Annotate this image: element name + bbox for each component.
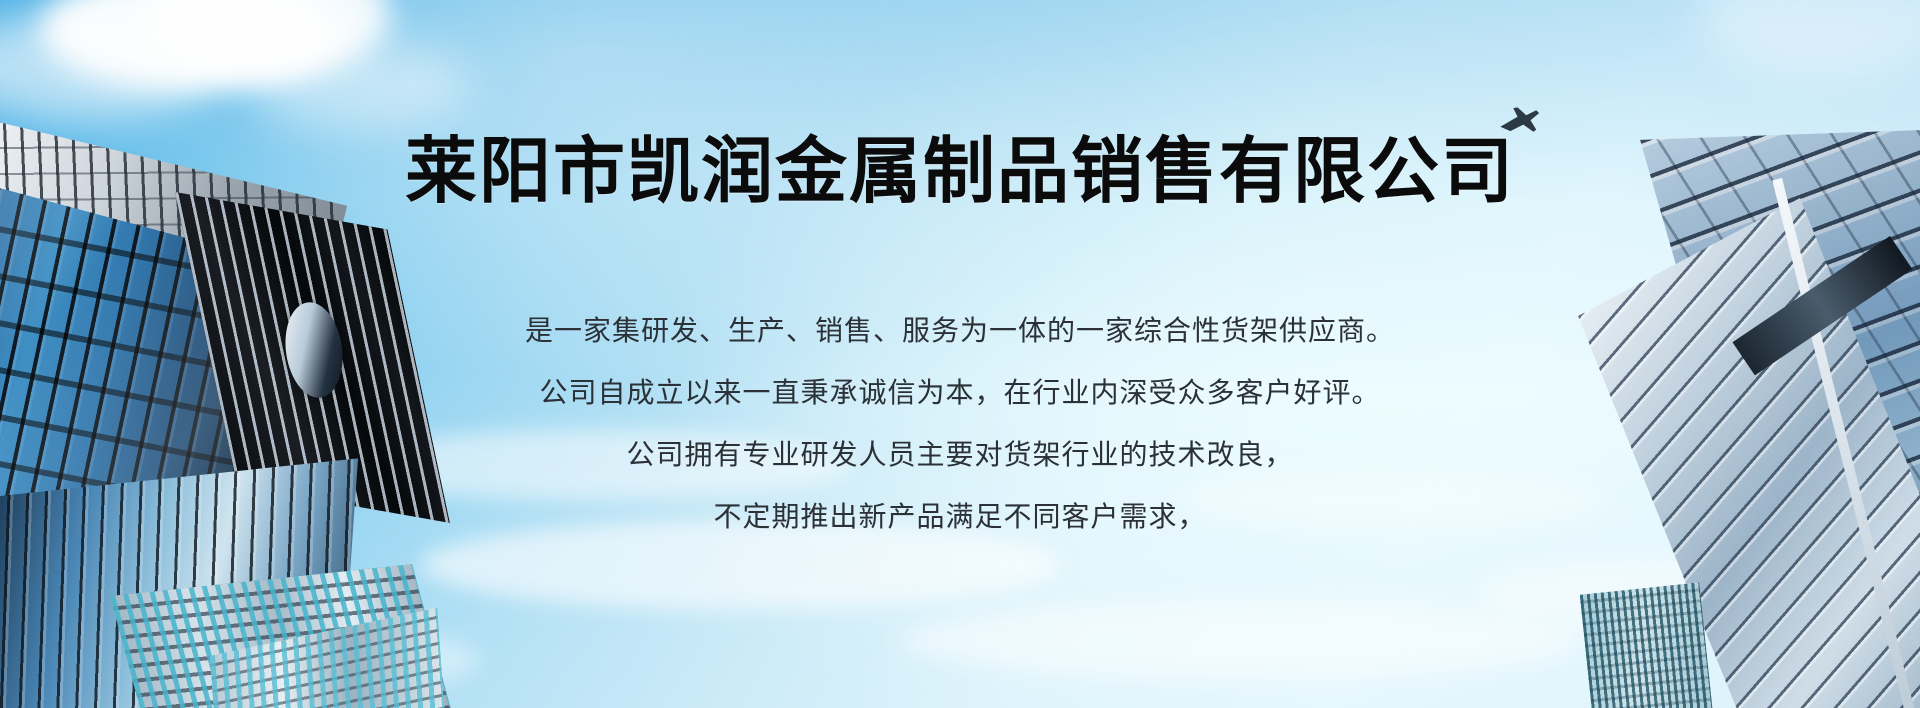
description-line: 是一家集研发、生产、销售、服务为一体的一家综合性货架供应商。 [0, 300, 1920, 362]
page-title: 莱阳市凯润金属制品销售有限公司 [0, 136, 1920, 208]
company-hero-banner: 莱阳市凯润金属制品销售有限公司 是一家集研发、生产、销售、服务为一体的一家综合性… [0, 0, 1920, 708]
description-line: 不定期推出新产品满足不同客户需求， [0, 486, 1920, 548]
company-description: 是一家集研发、生产、销售、服务为一体的一家综合性货架供应商。 公司自成立以来一直… [0, 300, 1920, 548]
description-line: 公司自成立以来一直秉承诚信为本，在行业内深受众多客户好评。 [0, 362, 1920, 424]
description-line: 公司拥有专业研发人员主要对货架行业的技术改良， [0, 424, 1920, 486]
banner-text-block: 莱阳市凯润金属制品销售有限公司 是一家集研发、生产、销售、服务为一体的一家综合性… [0, 0, 1920, 708]
